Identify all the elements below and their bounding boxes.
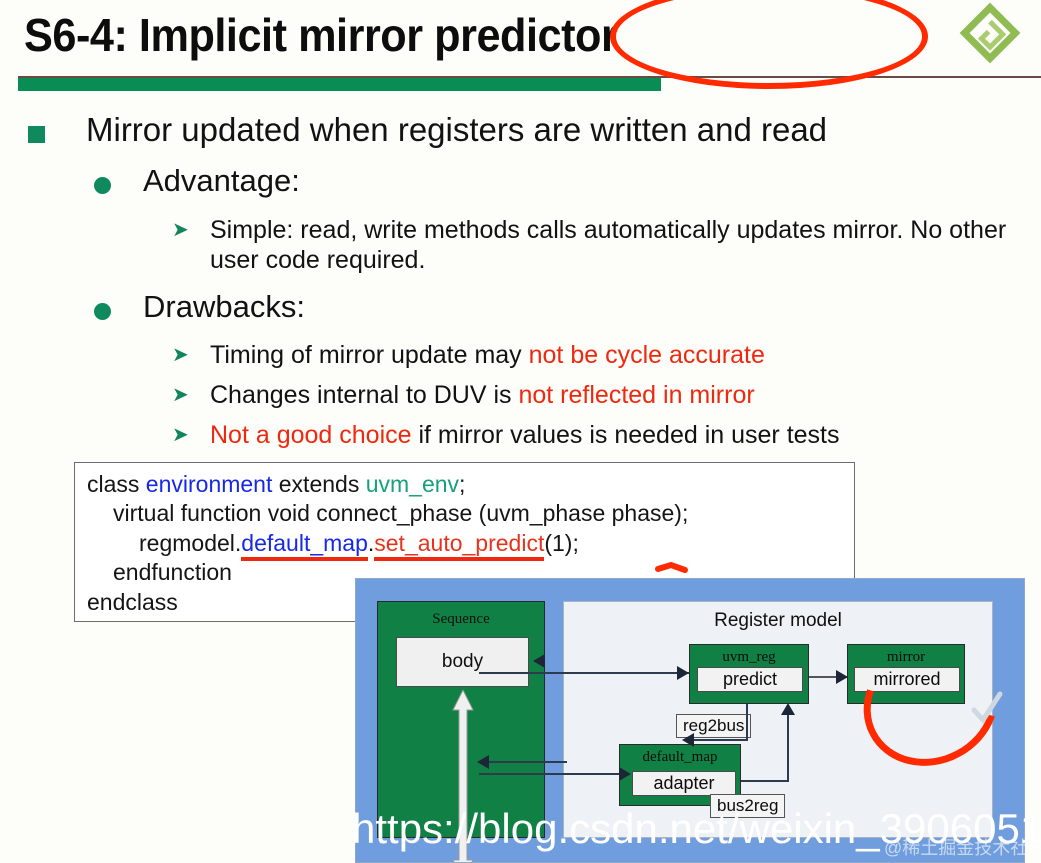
code-line-2: virtual function void connect_phase (uvm…: [87, 499, 854, 528]
bullet-drawbacks-item-1: ➤ Changes internal to DUV is not reflect…: [172, 380, 755, 410]
drawbacks-item-0-text: Timing of mirror update may not be cycle…: [210, 340, 765, 370]
drawbacks-heading-text: Drawbacks:: [143, 290, 305, 325]
uvm-reg-block: uvm_reg predict: [689, 644, 809, 704]
drawbacks-item-2-black: if mirror values is needed in user tests: [412, 421, 840, 449]
arrow-to-adapter: [619, 767, 631, 781]
mirrored-block: mirrored: [854, 667, 960, 692]
bullet-drawbacks-item-0: ➤ Timing of mirror update may not be cyc…: [172, 340, 765, 370]
green-circle-bullet-icon: [94, 303, 111, 320]
default-map-label: default_map: [620, 749, 740, 766]
green-diamond-logo-icon: [951, 2, 1029, 64]
connector-bus2reg-horizontal: [741, 780, 789, 782]
code-set-auto-predict-underlined: set_auto_predict: [374, 530, 544, 556]
bullet-drawbacks-heading: Drawbacks:: [94, 290, 305, 325]
code-kw-class: class: [87, 471, 146, 497]
code-semicolon-1: ;: [459, 471, 465, 497]
drawbacks-item-1-text: Changes internal to DUV is not reflected…: [210, 380, 755, 410]
watermark-community: @稀土掘金技术社区: [884, 834, 1041, 860]
green-circle-bullet-icon: [94, 177, 111, 194]
drawbacks-item-2-red: Not a good choice: [210, 421, 412, 449]
chevron-right-bullet-icon: ➤: [172, 220, 191, 240]
connector-sequence-left: [489, 761, 567, 763]
drawbacks-item-0-black: Timing of mirror update may: [210, 341, 529, 369]
page-title: S6-4: Implicit mirror predictor: [24, 8, 617, 62]
drawbacks-item-2-text: Not a good choice if mirror values is ne…: [210, 420, 840, 450]
slide-header: S6-4: Implicit mirror predictor: [0, 0, 1041, 90]
sequence-block: Sequence body: [377, 601, 545, 838]
bullet-level1-text: Mirror updated when registers are writte…: [86, 112, 827, 149]
predict-block: predict: [697, 667, 803, 692]
sequence-label: Sequence: [378, 611, 544, 628]
register-model-panel: Register model uvm_reg predict mirror mi…: [563, 601, 993, 838]
arrow-to-default-map: [682, 733, 694, 747]
mirror-label: mirror: [848, 649, 964, 666]
code-default-map-underlined: default_map: [241, 530, 368, 556]
arrow-into-sequence: [477, 755, 489, 769]
green-square-bullet-icon: [28, 126, 45, 143]
advantage-heading-text: Advantage:: [143, 164, 300, 199]
slide-canvas: S6-4: Implicit mirror predictor Mirror u…: [0, 0, 1041, 863]
bullet-advantage-heading: Advantage:: [94, 164, 300, 199]
arrow-to-mirror: [836, 670, 848, 684]
connector-body-to-uvmreg: [479, 672, 689, 674]
code-kw-extends: extends: [272, 471, 365, 497]
title-green-bar: [18, 78, 661, 91]
drawbacks-item-1-red: not reflected in mirror: [518, 381, 754, 409]
connector-adapter-to-body: [479, 773, 629, 775]
code-ident-uvm-env: uvm_env: [366, 471, 459, 497]
code-regmodel: regmodel.: [139, 530, 241, 556]
body-block: body: [396, 637, 529, 687]
uvm-reg-label: uvm_reg: [690, 649, 808, 666]
code-line-3: regmodel.default_map.set_auto_predict(1)…: [87, 529, 854, 558]
bullet-level1: Mirror updated when registers are writte…: [28, 112, 827, 149]
chevron-right-bullet-icon: ➤: [172, 345, 191, 365]
bullet-drawbacks-item-2: ➤ Not a good choice if mirror values is …: [172, 420, 840, 450]
chevron-right-bullet-icon: ➤: [172, 425, 191, 445]
drawbacks-item-1-black: Changes internal to DUV is: [210, 381, 518, 409]
register-model-label: Register model: [564, 610, 992, 632]
chevron-right-bullet-icon: ➤: [172, 385, 191, 405]
arrow-into-body: [533, 654, 545, 668]
adapter-block: adapter: [632, 771, 736, 796]
red-check-mark-icon: [655, 560, 695, 578]
code-ident-environment: environment: [146, 471, 273, 497]
connector-uvmreg-down: [746, 704, 748, 740]
mirror-block: mirror mirrored: [847, 644, 965, 704]
bullet-advantage-item-0: ➤ Simple: read, write methods calls auto…: [172, 215, 1022, 275]
arrow-to-uvmreg: [677, 666, 689, 680]
advantage-item-0-black: Simple: read, write methods calls automa…: [210, 216, 1006, 274]
code-arg-one: (1);: [544, 530, 579, 556]
advantage-item-0-text: Simple: read, write methods calls automa…: [210, 215, 1015, 275]
connector-reg2bus-horizontal: [694, 739, 748, 741]
drawbacks-item-0-red: not be cycle accurate: [529, 341, 765, 369]
code-line-1: class environment extends uvm_env;: [87, 470, 854, 499]
arrow-to-uvmreg-up: [781, 703, 795, 715]
connector-bus2reg-vertical: [787, 714, 789, 782]
